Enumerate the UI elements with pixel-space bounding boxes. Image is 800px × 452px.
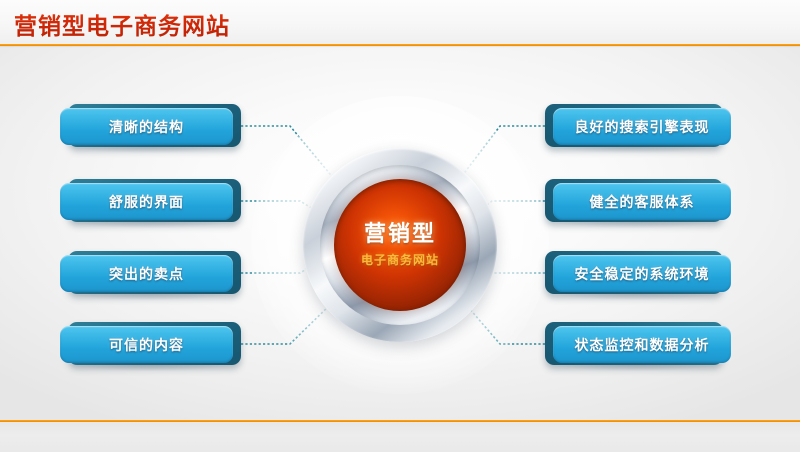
- node-left-2-label: 舒服的界面: [109, 192, 184, 212]
- node-left-3-face[interactable]: 突出的卖点: [60, 255, 233, 292]
- node-left-2[interactable]: 舒服的界面: [60, 179, 241, 222]
- node-right-3-label: 安全稳定的系统环境: [575, 264, 710, 284]
- footer-band: [0, 422, 800, 452]
- center-hub: 营销型 电子商务网站: [303, 148, 497, 342]
- node-left-4[interactable]: 可信的内容: [60, 322, 241, 365]
- page-title: 营销型电子商务网站: [14, 7, 230, 41]
- hub-core: 营销型 电子商务网站: [334, 179, 466, 311]
- node-left-1-label: 清晰的结构: [109, 117, 184, 137]
- node-right-4[interactable]: 状态监控和数据分析: [545, 322, 731, 365]
- hub-subtitle: 电子商务网站: [361, 251, 439, 268]
- node-left-1-face[interactable]: 清晰的结构: [60, 108, 233, 145]
- slide-canvas: 营销型电子商务网站 营销型 电子商务网站 清晰的结构 舒服的界面: [0, 0, 800, 452]
- node-right-1-label: 良好的搜索引擎表现: [575, 117, 710, 137]
- node-left-4-label: 可信的内容: [109, 335, 184, 355]
- header-divider-rule: [0, 44, 800, 46]
- node-left-1[interactable]: 清晰的结构: [60, 104, 241, 147]
- node-left-3-label: 突出的卖点: [109, 264, 184, 284]
- hub-title: 营销型: [364, 222, 436, 246]
- node-left-4-face[interactable]: 可信的内容: [60, 326, 233, 363]
- node-right-1[interactable]: 良好的搜索引擎表现: [545, 104, 731, 147]
- node-right-4-face[interactable]: 状态监控和数据分析: [553, 326, 731, 363]
- node-right-2-face[interactable]: 健全的客服体系: [553, 183, 731, 220]
- node-right-1-face[interactable]: 良好的搜索引擎表现: [553, 108, 731, 145]
- slide-header: 营销型电子商务网站: [0, 0, 800, 46]
- node-right-2-label: 健全的客服体系: [590, 192, 695, 212]
- node-left-3[interactable]: 突出的卖点: [60, 251, 241, 294]
- node-right-2[interactable]: 健全的客服体系: [545, 179, 731, 222]
- node-left-2-face[interactable]: 舒服的界面: [60, 183, 233, 220]
- node-right-3[interactable]: 安全稳定的系统环境: [545, 251, 731, 294]
- node-right-3-face[interactable]: 安全稳定的系统环境: [553, 255, 731, 292]
- node-right-4-label: 状态监控和数据分析: [575, 335, 710, 355]
